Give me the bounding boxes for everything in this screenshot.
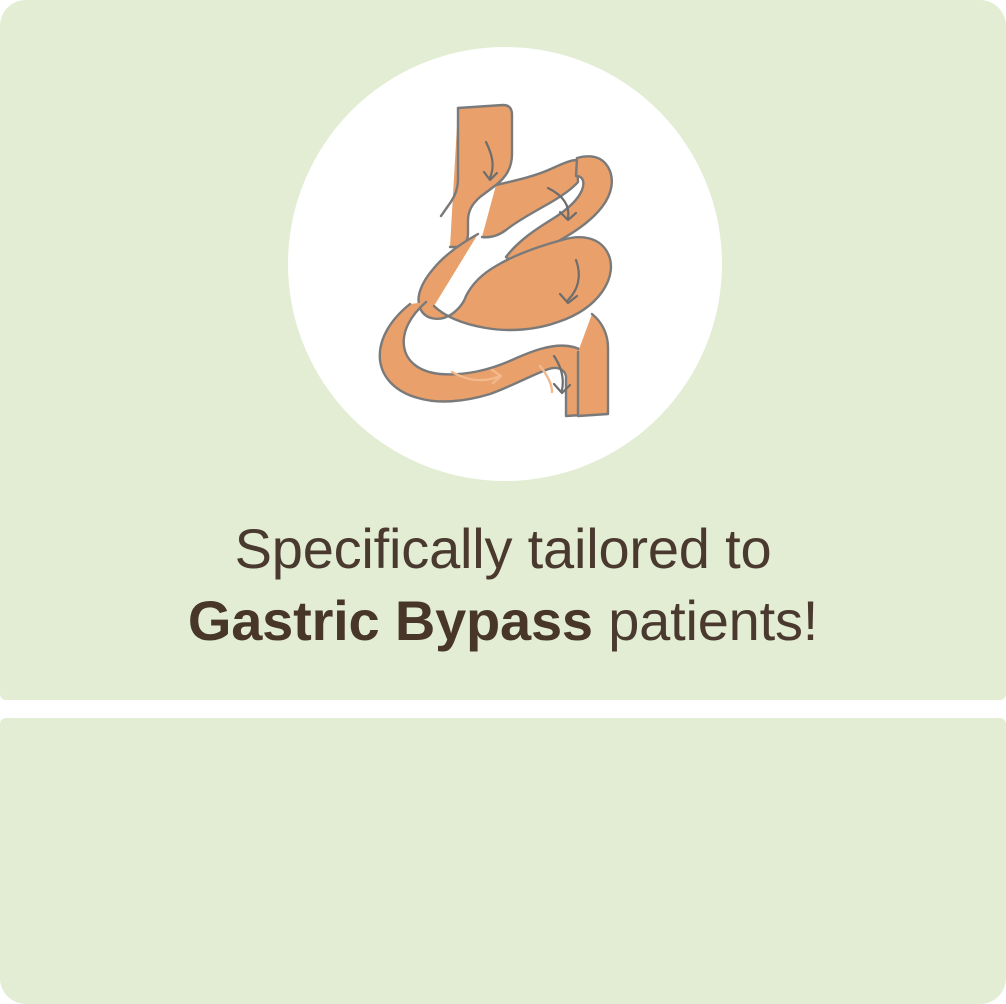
top-panel: Specifically tailored to Gastric Bypass … — [0, 0, 1006, 700]
headline: Specifically tailored to Gastric Bypass … — [0, 516, 1006, 654]
gastric-bypass-stomach-illustration — [340, 84, 670, 444]
headline-line-2: Gastric Bypass patients! — [0, 588, 1006, 654]
headline-line-1: Specifically tailored to — [0, 516, 1006, 582]
illustration-circle-background — [288, 47, 722, 481]
bottom-panel: Dairy free Gluten free Artificial flavor… — [0, 718, 1006, 1004]
headline-emphasis: Gastric Bypass — [188, 589, 593, 652]
headline-line-2-rest: patients! — [593, 589, 818, 652]
product-feature-infographic: Specifically tailored to Gastric Bypass … — [0, 0, 1006, 1004]
